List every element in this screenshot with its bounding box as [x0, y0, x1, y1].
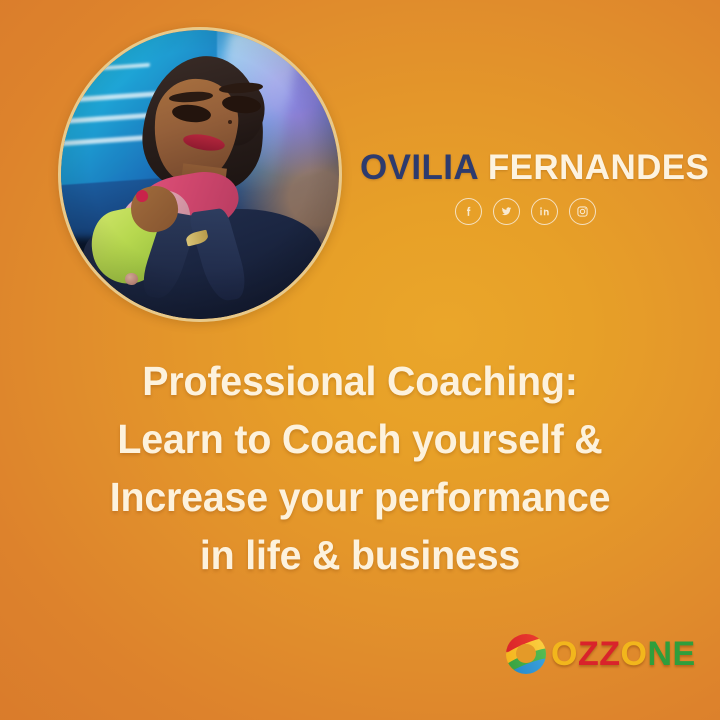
logo-letter-6: E	[673, 635, 696, 673]
headline: Professional Coaching: Learn to Coach yo…	[14, 352, 705, 584]
headline-line-4: in life & business	[14, 526, 705, 584]
logo-letter-2: Z	[578, 635, 599, 673]
logo-letter-4: O	[621, 635, 648, 673]
portrait-avatar	[58, 27, 342, 322]
twitter-icon[interactable]	[493, 198, 520, 225]
name-block: OVILIA FERNANDES	[360, 150, 690, 225]
facebook-icon[interactable]	[455, 198, 482, 225]
logo-letter-3: Z	[599, 635, 620, 673]
social-links	[360, 198, 690, 225]
headline-line-2: Learn to Coach yourself &	[14, 410, 705, 468]
photo-vignette	[61, 30, 339, 319]
logo-letter-1: O	[551, 635, 578, 673]
name-last: FERNANDES	[488, 148, 709, 187]
linkedin-icon[interactable]	[531, 198, 558, 225]
headline-line-3: Increase your performance	[14, 468, 705, 526]
instagram-icon[interactable]	[569, 198, 596, 225]
headline-line-1: Professional Coaching:	[14, 352, 705, 410]
portrait-photo	[61, 30, 339, 319]
ozzone-logo[interactable]: OZZONE	[506, 634, 696, 674]
ozzone-wordmark: OZZONE	[551, 637, 696, 671]
ozzone-globe-icon	[506, 634, 546, 674]
person-name: OVILIA FERNANDES	[360, 150, 690, 185]
name-first: OVILIA	[360, 148, 478, 187]
promo-poster: OVILIA FERNANDES	[0, 0, 720, 720]
logo-letter-5: N	[647, 635, 672, 673]
